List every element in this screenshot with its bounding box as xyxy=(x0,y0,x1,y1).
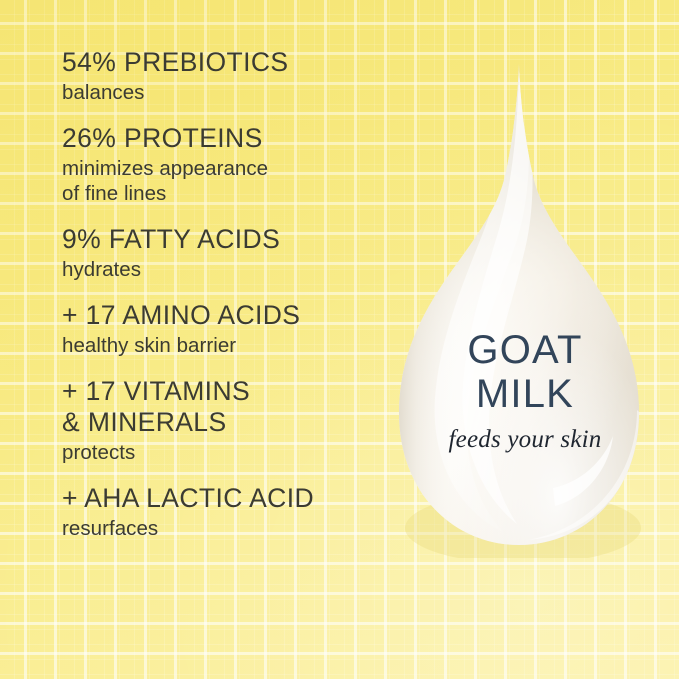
ingredient-item-prebiotics: 54% PREBIOTICS balances xyxy=(62,47,382,105)
ingredient-benefit: protects xyxy=(62,440,382,465)
ingredient-item-vitamins-minerals: + 17 VITAMINS & MINERALS protects xyxy=(62,376,382,465)
ingredient-title: 9% FATTY ACIDS xyxy=(62,224,382,255)
ingredient-title: + 17 VITAMINS & MINERALS xyxy=(62,376,382,438)
ingredient-benefit: balances xyxy=(62,80,382,105)
ingredient-item-amino-acids: + 17 AMINO ACIDS healthy skin barrier xyxy=(62,300,382,358)
ingredient-item-proteins: 26% PROTEINS minimizes appearance of fin… xyxy=(62,123,382,206)
ingredient-title: + 17 AMINO ACIDS xyxy=(62,300,382,331)
droplet-bounce-light xyxy=(385,58,665,558)
ingredient-title: 26% PROTEINS xyxy=(62,123,382,154)
poster-canvas: 54% PREBIOTICS balances 26% PROTEINS min… xyxy=(0,0,679,679)
ingredient-benefit: hydrates xyxy=(62,257,382,282)
ingredient-item-fatty-acids: 9% FATTY ACIDS hydrates xyxy=(62,224,382,282)
ingredient-benefit: healthy skin barrier xyxy=(62,333,382,358)
milk-droplet-icon xyxy=(385,58,665,558)
ingredient-title: + AHA LACTIC ACID xyxy=(62,483,382,514)
ingredient-benefit: resurfaces xyxy=(62,516,382,541)
ingredient-title: 54% PREBIOTICS xyxy=(62,47,382,78)
milk-droplet-illustration xyxy=(385,58,665,558)
ingredient-benefit: minimizes appearance of fine lines xyxy=(62,156,382,206)
ingredient-item-aha-lactic-acid: + AHA LACTIC ACID resurfaces xyxy=(62,483,382,541)
ingredient-list: 54% PREBIOTICS balances 26% PROTEINS min… xyxy=(62,47,382,559)
